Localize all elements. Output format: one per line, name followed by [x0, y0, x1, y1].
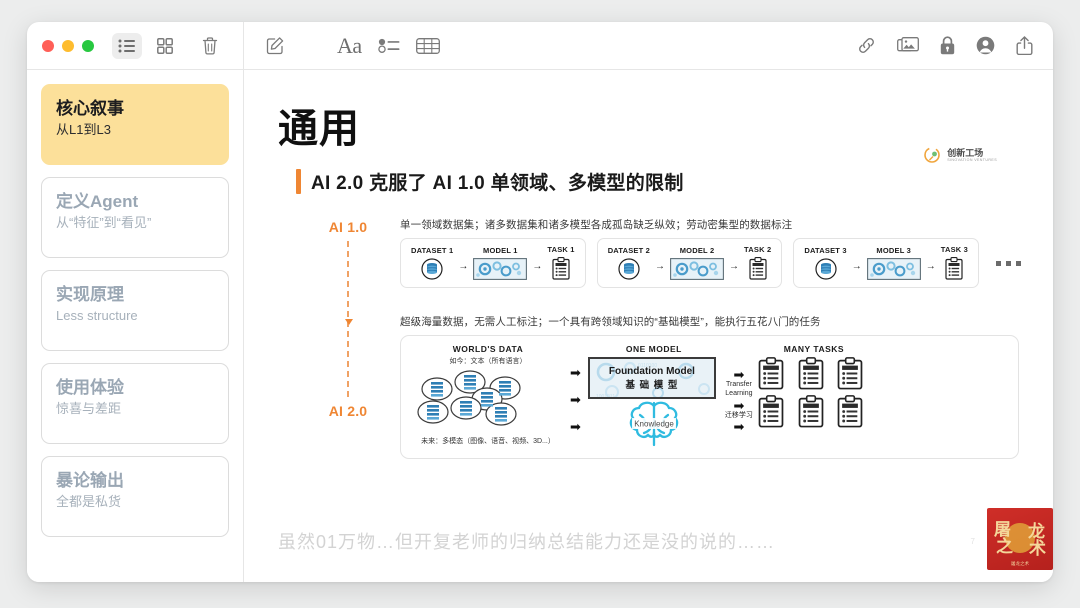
dataset-label: DATASET 2 [608, 246, 650, 255]
one-model-heading: ONE MODEL [588, 344, 720, 354]
axis-dashed-arrow [347, 241, 349, 397]
row1-cards: DATASET 1 [400, 238, 1019, 288]
clipboard-icon [945, 257, 963, 280]
arrow-icon: → [926, 261, 936, 272]
task-1: TASK 1 [547, 245, 574, 280]
arrow-icon: → [458, 261, 468, 272]
note-subtitle: 全都是私货 [56, 494, 214, 511]
transfer-learning-line1: Transfer [726, 381, 752, 390]
arrow-icon: ➡ [733, 420, 744, 433]
note-subtitle: Less structure [56, 308, 214, 325]
task-clipboard-icon [758, 395, 784, 428]
brand-subtitle: SINOVATION VENTURES [947, 158, 997, 162]
arrow-icon: ➡ [570, 420, 581, 433]
model-label: MODEL 2 [680, 246, 715, 255]
add-link-icon[interactable] [857, 36, 876, 55]
model-label: MODEL 3 [876, 246, 911, 255]
row-ai-2: 超级海量数据，无需人工标注；一个具有跨领域知识的“基础模型”，能执行五花八门的任… [400, 314, 1019, 459]
checklist-icon[interactable] [378, 38, 400, 53]
diagram-rows: 单一领域数据集；诸多数据集和诸多模型各成孤岛缺乏纵效；劳动密集型的数据标注 DA… [400, 217, 1019, 459]
model-2: MODEL 2 [670, 246, 724, 280]
note-content[interactable]: 通用 AI 2.0 克服了 AI 1.0 单领域、多模型的限制 创新工场 SIN… [244, 70, 1053, 582]
arrow-icon: → [729, 261, 739, 272]
dataset-label: DATASET 3 [804, 246, 846, 255]
watermark-stamp: 屠 龙 之 术 屠龙之术 [987, 508, 1053, 570]
table-icon[interactable] [416, 38, 440, 54]
notes-window: Aa [27, 22, 1053, 582]
ellipsis-indicator [996, 261, 1021, 266]
slide-diagram: AI 1.0 AI 2.0 单一领域数据集；诸多数据集和诸多模型各成孤岛缺乏纵效… [296, 217, 1019, 459]
data-cluster-icon [413, 368, 561, 430]
brain-knowledge-icon: Knowledge [618, 397, 690, 449]
foundation-model-title: Foundation Model [609, 366, 695, 377]
svg-text:Knowledge: Knowledge [634, 420, 674, 429]
note-title: 暴论输出 [56, 470, 214, 491]
note-subtitle: 从“特征”到“看见” [56, 215, 214, 232]
gears-icon [867, 258, 921, 280]
task-label: TASK 3 [941, 245, 968, 254]
sidebar-item-core-narrative[interactable]: 核心叙事 从L1到L3 [41, 84, 229, 165]
database-icon [618, 258, 640, 280]
arrow-icon: → [655, 261, 665, 272]
compose-note-icon[interactable] [266, 36, 285, 55]
note-subtitle: 从L1到L3 [56, 122, 214, 139]
traffic-lights [42, 40, 94, 52]
arrow-icon: ➡ [570, 393, 581, 406]
close-button[interactable] [42, 40, 54, 52]
transfer-learning-column: ➡ Transfer Learning ➡ 迁移学习 ➡ [720, 368, 758, 433]
task-clipboard-icon [837, 357, 863, 390]
foundation-model-box: 0110100 1001011 Foundation Model 基 础 模 型 [588, 357, 716, 399]
maximize-button[interactable] [82, 40, 94, 52]
sidebar-item-hot-takes[interactable]: 暴论输出 全都是私货 [41, 456, 229, 537]
ai-generation-axis: AI 1.0 AI 2.0 [308, 219, 388, 419]
share-icon[interactable] [1016, 36, 1033, 55]
headline-text: AI 2.0 克服了 AI 1.0 单领域、多模型的限制 [311, 168, 684, 195]
format-group: Aa [337, 33, 440, 59]
window-body: 核心叙事 从L1到L3 定义Agent 从“特征”到“看见” 实现原理 Less… [27, 70, 1053, 582]
stamp-subtitle: 屠龙之术 [987, 561, 1053, 567]
row1-caption: 单一领域数据集；诸多数据集和诸多模型各成孤岛缺乏纵效；劳动密集型的数据标注 [400, 217, 1019, 232]
gears-icon [670, 258, 724, 280]
one-model-column: ONE MODEL 0110100 [588, 344, 720, 449]
pipeline-card-3: DATASET 3 [793, 238, 979, 288]
note-subtitle: 惊喜与差距 [56, 401, 214, 418]
page-title: 通用 [278, 96, 1019, 154]
list-view-icon[interactable] [112, 33, 142, 59]
axis-label-ai-2: AI 2.0 [329, 403, 368, 419]
actions-group [857, 36, 1033, 55]
brand-logo: 创新工场 SINOVATION VENTURES [923, 146, 997, 165]
clipboard-icon [552, 257, 570, 280]
accent-bar [296, 169, 301, 194]
pipeline-card-1: DATASET 1 [400, 238, 586, 288]
task-clipboard-icon [798, 357, 824, 390]
titlebar-right-section: Aa [244, 22, 1053, 69]
arrow-icon: ➡ [733, 368, 744, 381]
arrow-icon: ➡ [570, 366, 581, 379]
worlds-data-note-top: 如今：文本（所有语言） [413, 357, 563, 366]
titlebar: Aa [27, 22, 1053, 70]
pipeline-card-2: DATASET 2 [597, 238, 783, 288]
many-tasks-column: MANY TASKS [758, 344, 870, 428]
arrow-icon: ➡ [733, 399, 744, 412]
innovation-works-mark [923, 146, 942, 165]
worlds-data-column: WORLD'S DATA 如今：文本（所有语言） [413, 344, 563, 446]
brand-name: 创新工场 [947, 149, 997, 158]
sidebar-item-principles[interactable]: 实现原理 Less structure [41, 270, 229, 351]
note-title: 定义Agent [56, 191, 214, 212]
titlebar-left-section [27, 22, 244, 69]
grid-view-icon[interactable] [150, 33, 180, 59]
task-clipboard-icon [837, 395, 863, 428]
worlds-data-note-bottom: 未来：多模态（图像、语音、视频、3D...） [413, 437, 563, 446]
dataset-1: DATASET 1 [411, 246, 453, 280]
notes-sidebar[interactable]: 核心叙事 从L1到L3 定义Agent 从“特征”到“看见” 实现原理 Less… [27, 70, 244, 582]
dataset-2: DATASET 2 [608, 246, 650, 280]
note-title: 实现原理 [56, 284, 214, 305]
task-3: TASK 3 [941, 245, 968, 280]
compose-group [266, 36, 285, 55]
stamp-char-3: 之 [996, 532, 1013, 557]
task-label: TASK 1 [547, 245, 574, 254]
account-icon[interactable] [976, 36, 995, 55]
dataset-label: DATASET 1 [411, 246, 453, 255]
sidebar-item-experience[interactable]: 使用体验 惊喜与差距 [41, 363, 229, 444]
minimize-button[interactable] [62, 40, 74, 52]
axis-label-ai-1: AI 1.0 [329, 219, 368, 235]
row2-caption: 超级海量数据，无需人工标注；一个具有跨领域知识的“基础模型”，能执行五花八门的任… [400, 314, 1019, 329]
task-clipboard-icon [798, 395, 824, 428]
worlds-data-heading: WORLD'S DATA [413, 344, 563, 354]
model-label: MODEL 1 [483, 246, 518, 255]
lock-note-icon[interactable] [940, 36, 955, 55]
arrow-icon: → [852, 261, 862, 272]
row-ai-1: 单一领域数据集；诸多数据集和诸多模型各成孤岛缺乏纵效；劳动密集型的数据标注 DA… [400, 217, 1019, 288]
stamp-char-4: 术 [1029, 534, 1046, 559]
arrow-icon: → [532, 261, 542, 272]
model-3: MODEL 3 [867, 246, 921, 280]
database-icon [815, 258, 837, 280]
sidebar-item-define-agent[interactable]: 定义Agent 从“特征”到“看见” [41, 177, 229, 258]
headline-row: AI 2.0 克服了 AI 1.0 单领域、多模型的限制 [296, 168, 1019, 195]
clipboard-icon [749, 257, 767, 280]
note-title: 核心叙事 [56, 98, 214, 119]
dataset-3: DATASET 3 [804, 246, 846, 280]
tasks-grid [758, 357, 870, 428]
add-media-icon[interactable] [897, 37, 919, 55]
task-clipboard-icon [758, 357, 784, 390]
page-number: 7 [971, 537, 975, 546]
task-2: TASK 2 [744, 245, 771, 280]
foundation-model-title-cn: 基 础 模 型 [625, 377, 678, 391]
gears-icon [473, 258, 527, 280]
note-title: 使用体验 [56, 377, 214, 398]
trash-icon[interactable] [195, 33, 225, 59]
text-format-icon[interactable]: Aa [337, 33, 362, 59]
task-label: TASK 2 [744, 245, 771, 254]
data-to-model-arrows: ➡ ➡ ➡ [563, 366, 588, 433]
svg-text:1001011: 1001011 [596, 394, 615, 399]
database-icon [421, 258, 443, 280]
foundation-model-card: WORLD'S DATA 如今：文本（所有语言） [400, 335, 1019, 459]
footer-commentary: 虽然01万物…但开复老师的归纳总结能力还是没的说的…… [278, 528, 775, 554]
many-tasks-heading: MANY TASKS [758, 344, 870, 354]
model-1: MODEL 1 [473, 246, 527, 280]
